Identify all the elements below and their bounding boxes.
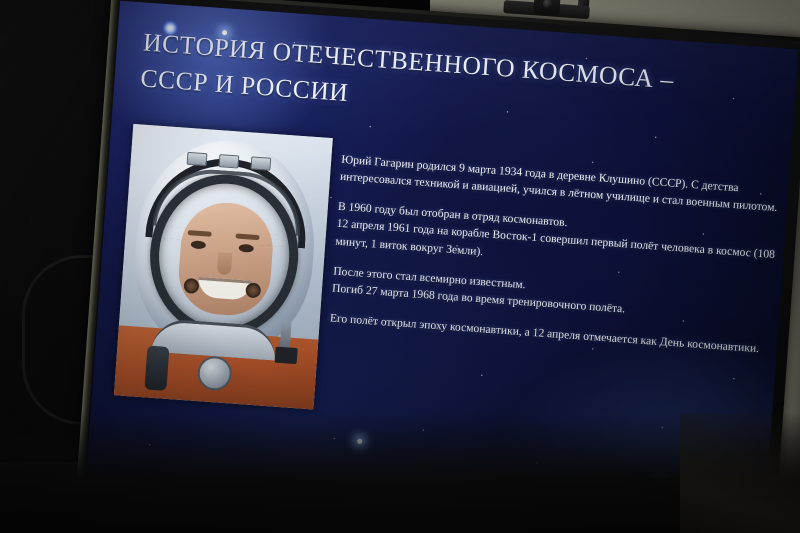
gagarin-portrait-photo [114, 124, 333, 410]
slide-body-text: Юрий Гагарин родился 9 марта 1934 года в… [329, 151, 780, 358]
room-shadow-corner [680, 413, 800, 533]
face-nose [217, 252, 233, 275]
helmet-clamp-center [218, 154, 239, 168]
helmet-clamp-right [250, 156, 271, 170]
photographed-room-scene: История отечественного космоса – СССР и … [0, 0, 800, 533]
suit-hose-fitting [144, 345, 169, 390]
helmet-clamp-left [187, 152, 208, 166]
helmet-strap-buckle [275, 347, 298, 365]
